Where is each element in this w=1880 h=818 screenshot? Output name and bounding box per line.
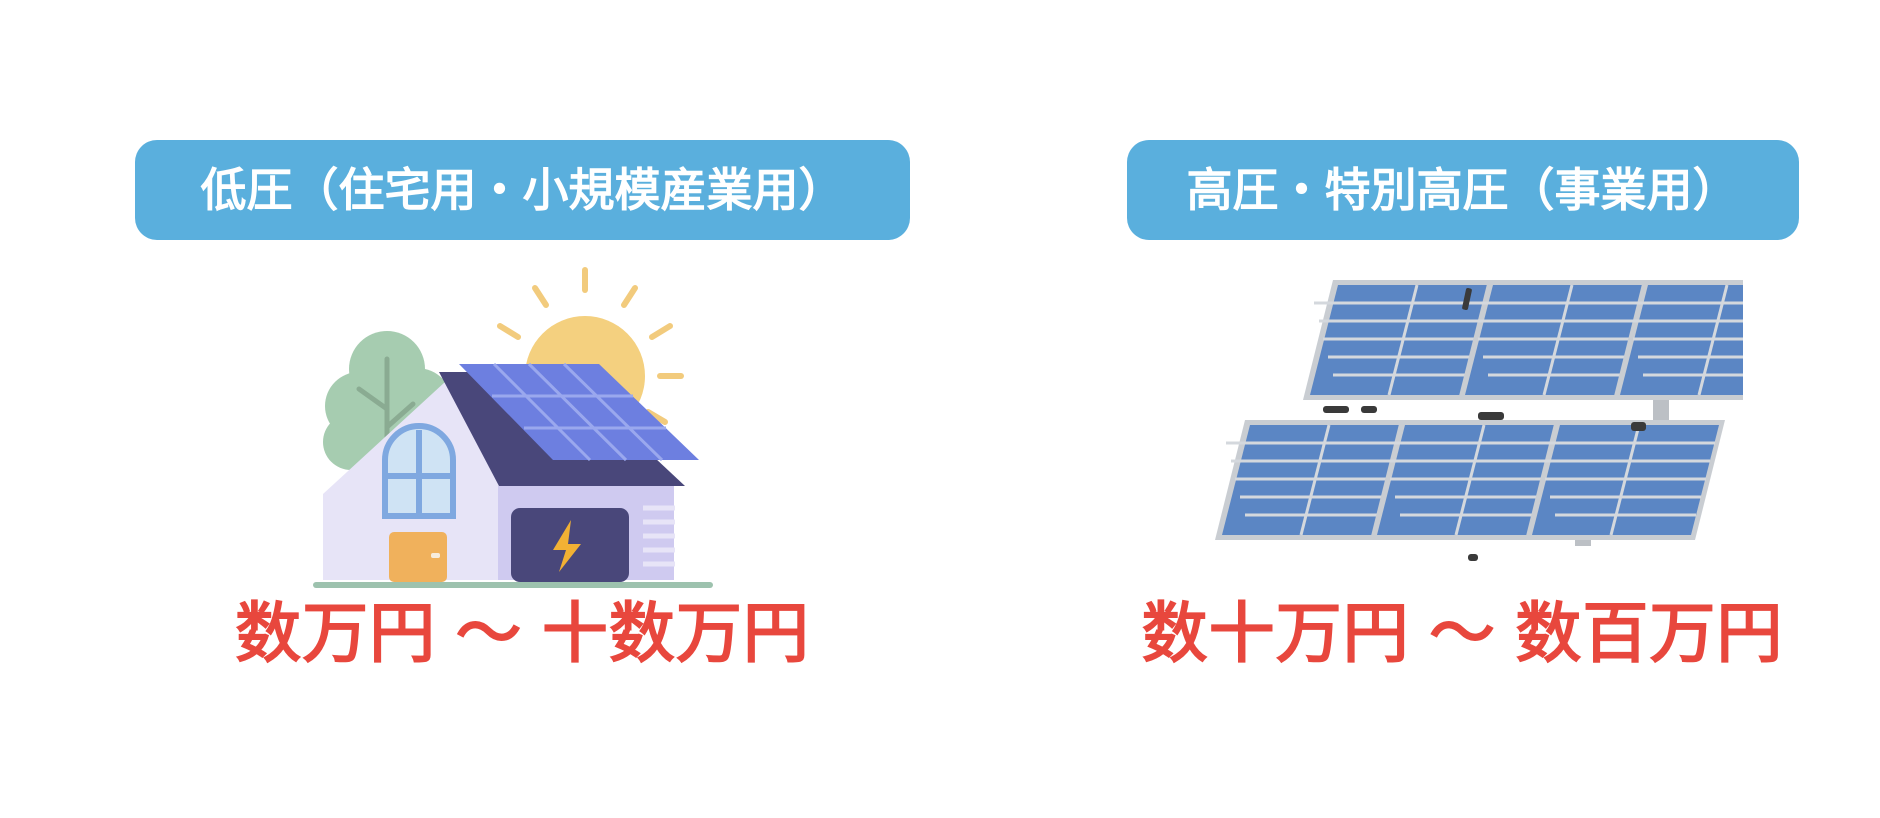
price-low-voltage: 数万円 〜 十数万円 (235, 596, 810, 672)
column-low-voltage: 低圧（住宅用・小規模産業用） (0, 0, 1045, 672)
column-high-voltage: 高圧・特別高圧（事業用） (1045, 0, 1880, 672)
comparison-graphic: 低圧（住宅用・小規模産業用） (0, 0, 1880, 818)
badge-low-voltage: 低圧（住宅用・小規模産業用） (135, 140, 910, 240)
badge-high-voltage: 高圧・特別高圧（事業用） (1127, 140, 1799, 240)
array-row-front (1215, 420, 1725, 540)
arched-window (385, 426, 453, 516)
front-door (389, 532, 447, 582)
array-row-back (1303, 280, 1743, 400)
ground-mounted-solar-array-illustration (1183, 264, 1743, 594)
house-with-rooftop-solar-illustration (313, 264, 733, 594)
price-high-voltage: 数十万円 〜 数百万円 (1142, 596, 1784, 672)
comparison-columns: 低圧（住宅用・小規模産業用） (0, 0, 1880, 818)
ground-line (313, 582, 713, 588)
battery-unit (511, 508, 629, 582)
